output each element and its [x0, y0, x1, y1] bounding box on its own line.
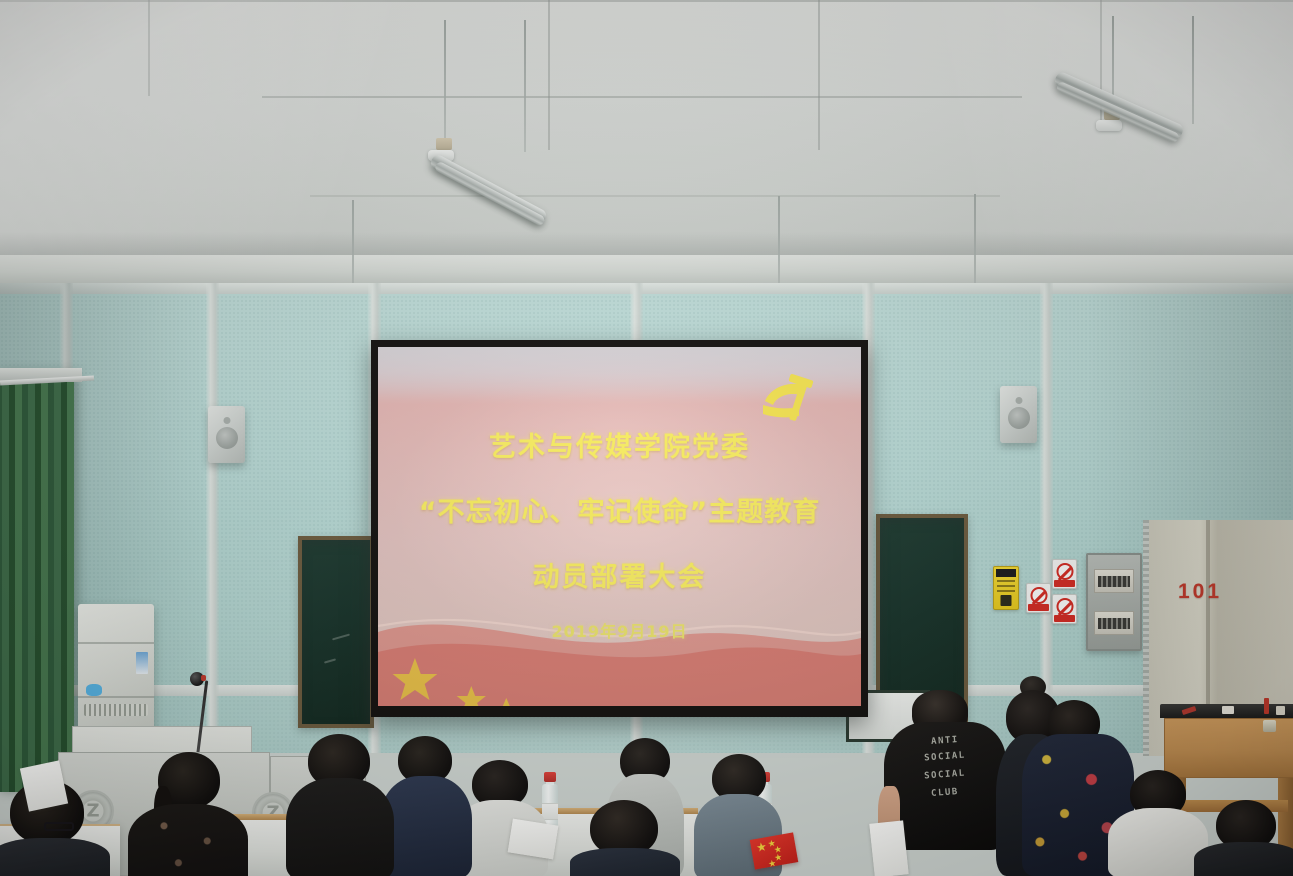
bench-latch[interactable]	[1263, 720, 1276, 732]
circuit-breakers[interactable]	[1098, 618, 1130, 629]
sign-caption-bar	[1028, 604, 1049, 611]
slide-date: 2019年9月19日	[378, 618, 861, 642]
slide-text-block: 艺术与传媒学院党委 “不忘初心、牢记使命”主题教育 动员部署大会	[378, 425, 861, 620]
projection-screen: 艺术与传媒学院党委 “不忘初心、牢记使命”主题教育 动员部署大会 2019年9月…	[371, 340, 868, 717]
ceiling-seam	[818, 0, 820, 150]
warning-sign-line	[997, 585, 1015, 587]
microphone-indicator	[201, 675, 206, 681]
light-hanger-rod	[444, 20, 446, 142]
no-smoking-sign	[1026, 583, 1051, 613]
breaker-row[interactable]	[1094, 569, 1134, 593]
no-climbing-sign	[1052, 594, 1077, 624]
light-hanger-rod	[1192, 16, 1194, 124]
person-audience	[286, 734, 394, 876]
eyeglasses	[44, 822, 74, 831]
wall-speaker	[208, 406, 245, 463]
light-mount-cap	[1096, 120, 1122, 131]
flag-star-small: ★	[768, 859, 778, 869]
sign-caption-bar	[1054, 580, 1075, 587]
shirt-text-line-2: SOCIAL	[884, 748, 1006, 767]
light-junction-box	[436, 138, 452, 150]
shirt-text-line-4: CLUB	[884, 784, 1006, 803]
circuit-breakers[interactable]	[1098, 576, 1130, 587]
ac-panel-seam	[78, 642, 154, 644]
warning-sign-line	[997, 580, 1015, 582]
bench-item-cap[interactable]	[1276, 706, 1285, 715]
slide-line-2: “不忘初心、牢记使命”主题教育	[378, 490, 861, 529]
ac-vent	[84, 704, 148, 716]
warning-sign-pictogram	[1001, 595, 1012, 606]
ceiling-seam	[548, 0, 550, 150]
speaker-tweeter	[223, 417, 230, 424]
warning-sign	[993, 566, 1019, 610]
ac-sticker	[86, 684, 102, 696]
small-chinese-flag: ★ ★ ★ ★ ★	[750, 832, 799, 869]
speaker-cone	[216, 427, 238, 449]
no-littering-sign	[1052, 559, 1077, 589]
ceiling-seam	[262, 96, 1022, 98]
warning-sign-header	[996, 569, 1016, 577]
wall-speaker	[1000, 386, 1037, 443]
person-lace-top	[128, 752, 248, 876]
torso	[286, 778, 394, 876]
sign-caption-bar	[1054, 615, 1075, 622]
slide-line-3: 动员部署大会	[378, 555, 861, 594]
wall-panel-rail	[0, 283, 1293, 294]
handout-paper	[508, 819, 559, 860]
ceiling-seam	[310, 195, 1000, 197]
speaker-tweeter	[1015, 397, 1022, 404]
wall-cable-trunking	[1143, 520, 1149, 756]
torso	[0, 838, 110, 876]
ceiling-seam	[148, 0, 150, 96]
wall-cornice	[0, 255, 1293, 285]
bench-item-eraser[interactable]	[1222, 706, 1234, 714]
electrical-distribution-panel[interactable]	[1086, 553, 1142, 651]
chalk-mark	[324, 658, 336, 663]
ac-panel-seam	[78, 696, 154, 698]
torso	[128, 804, 248, 876]
person-dark-hair-right	[1200, 800, 1293, 876]
bench-item-pen[interactable]	[1264, 698, 1269, 714]
ac-energy-label	[136, 652, 148, 674]
speaker-cone	[1008, 407, 1030, 429]
projection-surface: 艺术与传媒学院党委 “不忘初心、牢记使命”主题教育 动员部署大会 2019年9月…	[378, 347, 861, 706]
torso	[1108, 808, 1208, 876]
cpc-hammer-sickle-emblem	[755, 371, 833, 433]
torso	[1194, 842, 1293, 876]
floor-standing-air-conditioner[interactable]	[78, 604, 154, 730]
classroom-photo-scene: ThreeStars	[0, 0, 1293, 876]
light-hanger-rod	[524, 20, 526, 152]
person-white-shirt	[1112, 770, 1204, 876]
blackboard-panel	[298, 536, 374, 728]
slide-line-1: 艺术与传媒学院党委	[378, 425, 861, 464]
torso	[570, 848, 680, 876]
shirt-text-line-3: SOCIAL	[884, 766, 1006, 785]
person-audience-front	[564, 800, 684, 876]
green-window-curtain	[0, 372, 74, 792]
person-standing-asc-shirt: ANTI SOCIAL SOCIAL CLUB	[878, 690, 1008, 876]
lace-pattern	[128, 804, 248, 876]
handout-paper	[869, 820, 908, 876]
room-number-label: 101	[1178, 580, 1222, 604]
flag-star-large: ★	[756, 842, 768, 853]
breaker-row[interactable]	[1094, 611, 1134, 635]
chalk-mark	[332, 634, 350, 641]
warning-sign-line	[997, 590, 1015, 592]
